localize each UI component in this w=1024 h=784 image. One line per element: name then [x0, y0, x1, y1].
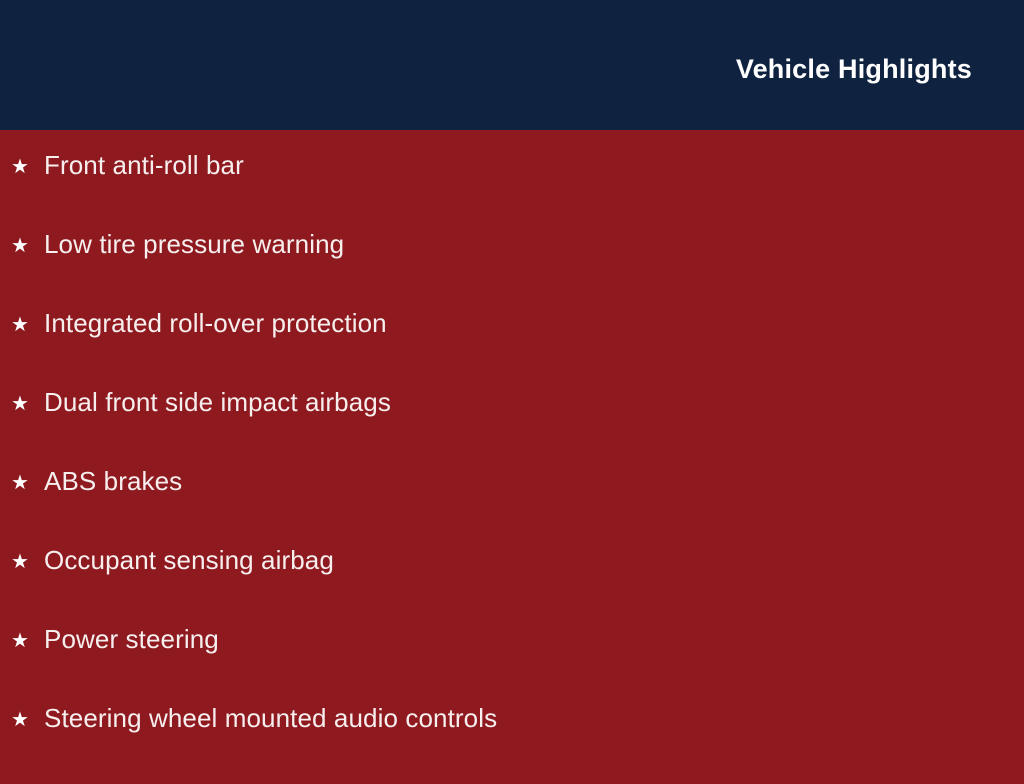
list-item-label: Integrated roll-over protection — [44, 310, 387, 336]
list-item: ★ Front anti-roll bar — [0, 152, 1024, 231]
list-item: ★ Power steering — [0, 626, 1024, 705]
list-item-label: Low tire pressure warning — [44, 231, 344, 257]
page-title: Vehicle Highlights — [736, 56, 972, 83]
list-item-label: Steering wheel mounted audio controls — [44, 705, 497, 731]
star-icon: ★ — [11, 551, 44, 571]
list-item: ★ Integrated roll-over protection — [0, 310, 1024, 389]
list-item-label: Occupant sensing airbag — [44, 547, 334, 573]
star-icon: ★ — [11, 235, 44, 255]
vehicle-highlights-list: ★ Front anti-roll bar ★ Low tire pressur… — [0, 152, 1024, 784]
list-item: ★ Steering wheel mounted audio controls — [0, 705, 1024, 784]
star-icon: ★ — [11, 709, 44, 729]
list-item: ★ Low tire pressure warning — [0, 231, 1024, 310]
star-icon: ★ — [11, 393, 44, 413]
list-item: ★ Occupant sensing airbag — [0, 547, 1024, 626]
star-icon: ★ — [11, 156, 44, 176]
list-item-label: Power steering — [44, 626, 219, 652]
list-item-label: Dual front side impact airbags — [44, 389, 391, 415]
star-icon: ★ — [11, 630, 44, 650]
list-item-label: Front anti-roll bar — [44, 152, 244, 178]
list-item: ★ Dual front side impact airbags — [0, 389, 1024, 468]
slide-body: ★ Front anti-roll bar ★ Low tire pressur… — [0, 130, 1024, 784]
list-item: ★ ABS brakes — [0, 468, 1024, 547]
slide-vehicle-highlights: Vehicle Highlights ★ Front anti-roll bar… — [0, 0, 1024, 768]
star-icon: ★ — [11, 472, 44, 492]
list-item-label: ABS brakes — [44, 468, 182, 494]
star-icon: ★ — [11, 314, 44, 334]
slide-header: Vehicle Highlights — [0, 0, 1024, 130]
